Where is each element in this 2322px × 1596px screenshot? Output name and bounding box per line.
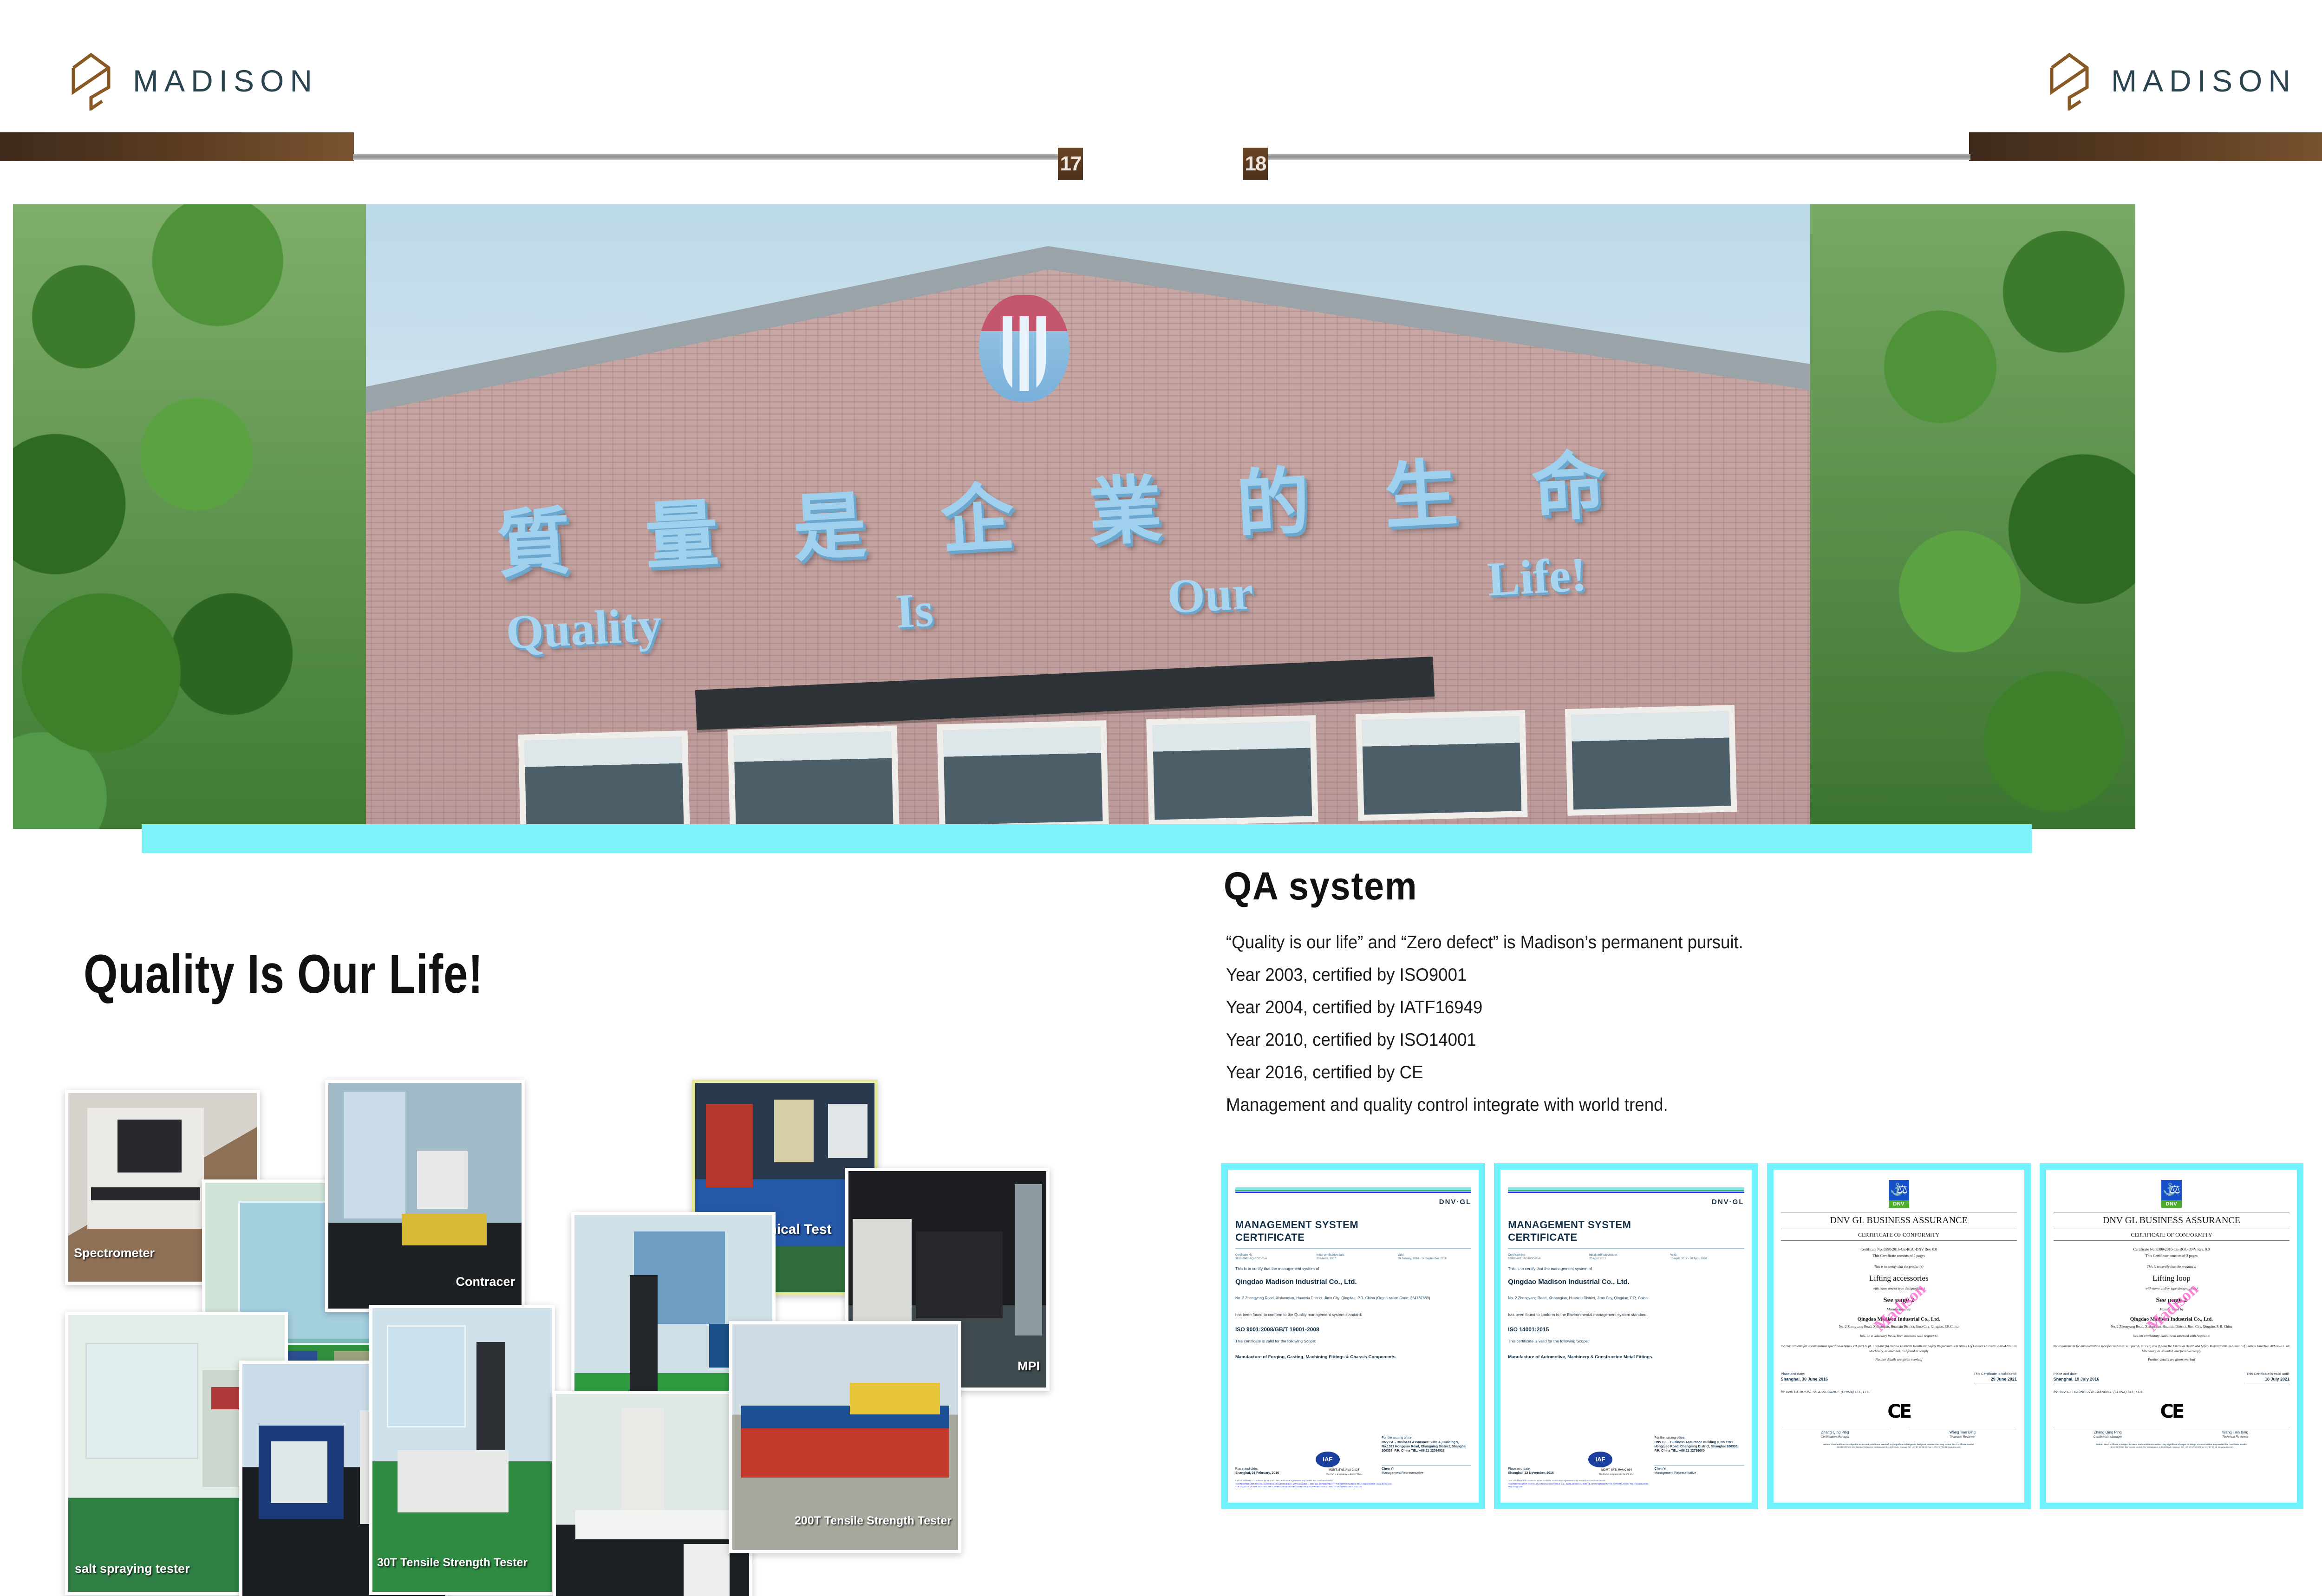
cert-address: No. 2 Zhengyang Road, Xishanqian, Huanxi… xyxy=(1781,1324,2017,1329)
cert-no: Certificate No. 8399-2016-CE-RGC-DNV Rev… xyxy=(2054,1247,2289,1252)
photo-caption: salt spraying tester xyxy=(75,1562,190,1576)
foliage-left xyxy=(13,204,366,829)
cert-designation-label: with name and/or type designation(s) xyxy=(1781,1286,2017,1291)
cert-requirements: the requirements for documentation speci… xyxy=(2054,1344,2289,1354)
en-word: Our xyxy=(1166,565,1255,625)
cert-valid-label: Valid: xyxy=(1670,1254,1677,1257)
cert-address: No. 2 Zhengyang Road, Xishanqian, Huanxi… xyxy=(2054,1324,2289,1329)
window xyxy=(1356,710,1528,821)
window xyxy=(727,725,900,829)
cert-conform-line: has been found to conform to the Quality… xyxy=(1235,1312,1471,1317)
cn-char: 業 xyxy=(1085,449,1164,560)
cert-title: DNV GL BUSINESS ASSURANCE xyxy=(2054,1212,2289,1229)
cert-office-label: For the issuing office: xyxy=(1654,1436,1744,1440)
cert-scope-label: This certificate is valid for the follow… xyxy=(1235,1339,1471,1344)
dnv-logo-text: DNV xyxy=(2161,1200,2182,1208)
cert-standard: ISO 14001:2015 xyxy=(1508,1326,1744,1333)
cert-subtitle: CERTIFICATE OF CONFORMITY xyxy=(1781,1229,2017,1241)
factory-banner-photo: 質 量 是 企 業 的 生 命 Quality Is Our Life! xyxy=(13,204,2135,829)
dnv-gl-logo: DNV·GL xyxy=(1235,1198,1471,1207)
dnv-stripe-band xyxy=(1235,1187,1471,1194)
cert-place-label: Place and date: xyxy=(1235,1467,1306,1471)
cert-title-line1: MANAGEMENT SYSTEM xyxy=(1235,1219,1471,1231)
en-word: Quality xyxy=(504,597,663,660)
cert-fineprint3: THE VALIDITY OF THE CERTIFICATE CAN BE C… xyxy=(1235,1485,1471,1489)
cert-assessed-line: has, on a voluntary basis, been assessed… xyxy=(1781,1334,2017,1338)
rva-accreditation-mark: MGMT. SYS. RvA C 034 xyxy=(1588,1468,1645,1472)
cn-char: 的 xyxy=(1233,442,1312,552)
header-accent-bar-left xyxy=(0,132,354,161)
cert-assessed-line: has, on a voluntary basis, been assessed… xyxy=(2054,1334,2289,1338)
header-rule-left xyxy=(353,154,1070,160)
window xyxy=(518,730,691,829)
ce-mark-icon: CE xyxy=(1781,1399,2017,1424)
cert-head-office: HEAD OFFICE: Det Norske Veritas AS, Veri… xyxy=(1781,1446,2017,1449)
cert-subtitle: CERTIFICATE OF CONFORMITY xyxy=(2054,1229,2289,1241)
dnv-stripe-band xyxy=(1508,1187,1744,1194)
cert-notice: Notice: The Certificate is subject to te… xyxy=(2096,1443,2247,1446)
cert-certify-line: This is to certify that the product(s) xyxy=(1781,1264,2017,1269)
brand-logo-left: MADISON xyxy=(70,51,318,111)
ce-mark-icon: CE xyxy=(2054,1399,2289,1424)
cert-office: DNV GL – Business Assurance Building 9, … xyxy=(1654,1441,1738,1453)
cert-certify-line: This is to certify that the management s… xyxy=(1235,1266,1471,1271)
cert-meta-row: Certificate No: 3618-2007-AQ-RGC-RvA Ini… xyxy=(1235,1253,1471,1261)
cert-valid: 29 June 2021 xyxy=(1974,1376,2017,1383)
cert-place: Shanghai, 01 February, 2016 xyxy=(1235,1472,1279,1475)
iaf-logo: IAF xyxy=(1588,1452,1612,1467)
cert-valid-range: 10 April, 2017 - 20 April, 2020 xyxy=(1670,1257,1707,1260)
cert-no-label: Certificate No: xyxy=(1508,1254,1526,1257)
certificate-card-iso14001[interactable]: DNV·GL MANAGEMENT SYSTEM CERTIFICATE Cer… xyxy=(1494,1163,1758,1509)
iaf-note: The RvA is a signatory to the IAF MLA xyxy=(1588,1473,1645,1476)
cert-standard: ISO 9001:2008/GB/T 19001-2008 xyxy=(1235,1326,1471,1333)
page-number-right: 18 xyxy=(1243,148,1268,180)
cert-designation: See page 2 xyxy=(1781,1296,2017,1305)
iaf-logo: IAF xyxy=(1316,1452,1340,1467)
cert-certify-line: This is to certify that the product(s) xyxy=(2054,1264,2289,1269)
cert-notice: Notice: The Certificate is subject to te… xyxy=(1823,1443,1974,1446)
cert-certify-line: This is to certify that the management s… xyxy=(1508,1266,1744,1271)
cert-init-label: Initial certification date: xyxy=(1589,1254,1618,1257)
cert-signer1-role: Certification Manager xyxy=(2054,1435,2162,1440)
slide-page: MADISON MADISON 17 18 質 量 是 企 業 的 xyxy=(0,0,2322,1596)
cert-signer1: Zhang Qing Ping xyxy=(1821,1430,1849,1434)
photo-caption: MPI xyxy=(1018,1359,1040,1374)
cn-char: 質 xyxy=(494,482,573,592)
cert-place-label: Place and date: xyxy=(1508,1467,1578,1471)
brand-wordmark: MADISON xyxy=(133,63,318,98)
cert-fineprint2: ACCREDITED UNIT: DNV GL BUSINESS ASSURAN… xyxy=(1235,1483,1471,1486)
qa-line: “Quality is our life” and “Zero defect” … xyxy=(1226,933,2221,951)
cert-valid-label: This Certificate is valid until: xyxy=(2246,1372,2289,1376)
cert-fineprint: Lack of fulfilment of conditions as set … xyxy=(1508,1479,1744,1483)
rva-accreditation-mark: MGMT. SYS. RvA C 034 xyxy=(1316,1468,1372,1472)
cert-signer: Chen Yi xyxy=(1654,1467,1666,1471)
photo-caption: 30T Tensile Strength Tester xyxy=(377,1556,528,1570)
cert-title-line1: MANAGEMENT SYSTEM xyxy=(1508,1219,1744,1231)
photo-caption: 200T Tensile Strength Tester xyxy=(795,1514,952,1528)
qa-line: Year 2016, certified by CE xyxy=(1226,1063,2221,1081)
cert-valid-range: 29 January, 2016 - 14 September, 2018 xyxy=(1398,1257,1447,1260)
window xyxy=(1146,715,1318,826)
dnv-logo-text: DNV xyxy=(1889,1200,1909,1208)
cert-scope-label: This certificate is valid for the follow… xyxy=(1508,1339,1744,1344)
photo-contracer: Contracer xyxy=(325,1080,525,1312)
cert-signer1-role: Certification Manager xyxy=(1781,1435,1890,1440)
cert-product: Lifting loop xyxy=(2054,1273,2289,1284)
cert-signer: Chen Yi xyxy=(1382,1467,1394,1471)
cert-manufactured-by: Manufactured by xyxy=(2054,1307,2289,1312)
qa-line: Management and quality control integrate… xyxy=(1226,1096,2221,1114)
header-accent-bar-right xyxy=(1969,132,2322,161)
brand-wordmark: MADISON xyxy=(2111,63,2296,98)
window xyxy=(937,720,1109,829)
cn-char: 是 xyxy=(789,465,868,575)
cert-signer2-role: Technical Reviewer xyxy=(2181,1435,2289,1440)
photo-caption: Spectrometer xyxy=(74,1246,155,1260)
dnv-gl-logo: DNV·GL xyxy=(1508,1198,1744,1207)
header-rule-right xyxy=(1259,154,1970,160)
cert-no: 3618-2007-AQ-RGC-RvA xyxy=(1235,1257,1267,1260)
cert-requirements: the requirements for documentation speci… xyxy=(1781,1344,2017,1354)
cert-company: Qingdao Madison Industrial Co., Ltd. xyxy=(2054,1316,2289,1323)
cert-title: DNV GL BUSINESS ASSURANCE xyxy=(1781,1212,2017,1229)
cert-company: Qingdao Madison Industrial Co., Ltd. xyxy=(1235,1277,1471,1287)
qa-line: Year 2003, certified by ISO9001 xyxy=(1226,966,2221,984)
qa-line: Year 2004, certified by IATF16949 xyxy=(1226,998,2221,1016)
cert-manufactured-by: Manufactured by xyxy=(1781,1307,2017,1312)
cert-no: 93952-2011-AE-RGC-RvA xyxy=(1508,1257,1540,1260)
cert-overleaf: Further details are given overleaf xyxy=(2054,1357,2289,1362)
dnv-anchor-scales-icon: ⚓⚖ DNV xyxy=(2161,1180,2182,1208)
cert-pages: This Certificate consists of 3 pages xyxy=(1781,1254,2017,1259)
dnv-anchor-scales-icon: ⚓⚖ DNV xyxy=(1889,1180,1909,1208)
photo-200t-tensile-strength-tester: 200T Tensile Strength Tester xyxy=(729,1321,961,1553)
en-word: Is xyxy=(894,582,935,639)
photo-vickers-hardness-tester: Vickers Hardness Tester xyxy=(553,1391,752,1596)
cert-company: Qingdao Madison Industrial Co., Ltd. xyxy=(1781,1316,2017,1323)
en-word: Life! xyxy=(1486,547,1588,607)
cert-signer1: Zhang Qing Ping xyxy=(2094,1430,2122,1434)
cert-company: Qingdao Madison Industrial Co., Ltd. xyxy=(1508,1277,1744,1287)
cert-head-office: HEAD OFFICE: Det Norske Veritas AS, Veri… xyxy=(2054,1446,2289,1449)
cert-signer2: Wang Tian Bing xyxy=(2222,1430,2248,1434)
cert-place: Shanghai, 22 November, 2016 xyxy=(1508,1472,1553,1475)
page-number-left: 17 xyxy=(1058,148,1083,180)
page-title: Quality Is Our Life! xyxy=(84,943,483,1006)
cn-char: 生 xyxy=(1381,433,1460,543)
cert-valid-label: Valid: xyxy=(1398,1254,1405,1257)
qa-system-heading: QA system xyxy=(1224,864,1417,909)
wall-emblem-icon xyxy=(979,295,1070,402)
cert-valid: 18 July 2021 xyxy=(2246,1376,2289,1383)
cert-fineprint3: www.dnvgl.com xyxy=(1508,1485,1744,1489)
cert-place-label: Place and date: xyxy=(2054,1372,2078,1376)
cert-scope: Manufacture of Forging, Casting, Machini… xyxy=(1235,1355,1471,1361)
cert-place: Shanghai, 30 June 2016 xyxy=(1781,1376,1828,1383)
cert-signer2: Wang Tian Bing xyxy=(1950,1430,1976,1434)
cn-char: 量 xyxy=(642,474,721,584)
foliage-right xyxy=(1810,204,2135,829)
cert-title-line2: CERTIFICATE xyxy=(1508,1231,1744,1244)
cert-pages: This Certificate consists of 3 pages xyxy=(2054,1254,2289,1259)
cert-no-label: Certificate No: xyxy=(1235,1254,1253,1257)
qa-line: Year 2010, certified by ISO14001 xyxy=(1226,1031,2221,1049)
cert-product: Lifting accessories xyxy=(1781,1273,2017,1284)
window xyxy=(1565,705,1737,816)
cert-signer-role: Management Representative xyxy=(1382,1472,1423,1475)
cert-office-label: For the issuing office: xyxy=(1382,1436,1471,1440)
cert-init-date: 20 March, 2007 xyxy=(1317,1257,1336,1260)
cert-conform-line: has been found to conform to the Environ… xyxy=(1508,1312,1744,1317)
certificate-card-iso9001[interactable]: DNV·GL MANAGEMENT SYSTEM CERTIFICATE Cer… xyxy=(1221,1163,1485,1509)
cert-title-line2: CERTIFICATE xyxy=(1235,1231,1471,1244)
cert-meta-row: Certificate No: 93952-2011-AE-RGC-RvA In… xyxy=(1508,1253,1744,1261)
cert-office: DNV GL - Business Assurance Suite A, Bui… xyxy=(1382,1441,1466,1453)
cert-place-label: Place and date: xyxy=(1781,1372,1805,1376)
cert-init-date: 20 April, 2011 xyxy=(1589,1257,1606,1260)
cyan-divider-bar xyxy=(142,824,2032,853)
cert-signer-role: Management Representative xyxy=(1654,1472,1696,1475)
cert-designation-label: with name and/or type designation(s) xyxy=(2054,1286,2289,1291)
cert-overleaf: Further details are given overleaf xyxy=(1781,1357,2017,1362)
cert-fineprint2: ACCREDITED UNIT: DNV-GL BUSINESS ASSURAN… xyxy=(1508,1483,1744,1486)
cert-no: Certificate No. 8398-2016-CE-RGC-DNV Rev… xyxy=(1781,1247,2017,1252)
cert-valid-label: This Certificate is valid until: xyxy=(1974,1372,2017,1376)
certificate-card-ce-lifting-accessories[interactable]: Madison ⚓⚖ DNV DNV GL BUSINESS ASSURANCE… xyxy=(1767,1163,2031,1509)
cn-char: 命 xyxy=(1529,425,1608,535)
madison-cube-icon xyxy=(2048,51,2091,111)
cert-address: No. 2 Zhengyang Road, Xishangian, Huanxi… xyxy=(1508,1296,1744,1301)
brand-logo-right: MADISON xyxy=(2048,51,2296,111)
certificate-card-ce-lifting-loop[interactable]: Madison ⚓⚖ DNV DNV GL BUSINESS ASSURANCE… xyxy=(2040,1163,2303,1509)
cert-scope: Manufacture of Automotive, Machinery & C… xyxy=(1508,1355,1744,1361)
cert-place: Shanghai, 19 July 2016 xyxy=(2054,1376,2100,1383)
iaf-note: The RvA is a signatory to the IAF MLA xyxy=(1316,1473,1372,1476)
cert-init-label: Initial certification date: xyxy=(1317,1254,1345,1257)
cert-signer2-role: Technical Reviewer xyxy=(1908,1435,2017,1440)
photo-30t-tensile-strength-tester: 30T Tensile Strength Tester xyxy=(369,1305,555,1595)
photo-caption: Contracer xyxy=(456,1275,515,1289)
madison-cube-icon xyxy=(70,51,112,111)
cert-for-line: for DNV GL BUSINESS ASSURANCE (CHINA) CO… xyxy=(2054,1390,2289,1394)
certificate-gallery: DNV·GL MANAGEMENT SYSTEM CERTIFICATE Cer… xyxy=(1221,1163,2303,1509)
cert-for-line: for DNV GL BUSINESS ASSURANCE (CHINA) CO… xyxy=(1781,1390,2017,1394)
qa-system-body: “Quality is our life” and “Zero defect” … xyxy=(1226,933,2285,1128)
cert-fineprint: Lack of fulfilment of conditions as set … xyxy=(1235,1479,1471,1483)
equipment-photo-collage: Spectrometer Impact testing machine -60℃… xyxy=(65,1080,1147,1498)
cn-char: 企 xyxy=(938,457,1017,567)
cert-designation: See page 2 xyxy=(2054,1296,2289,1305)
cert-address: No. 2 Zhengyang Road, Xishanqian, Huanxi… xyxy=(1235,1296,1471,1301)
